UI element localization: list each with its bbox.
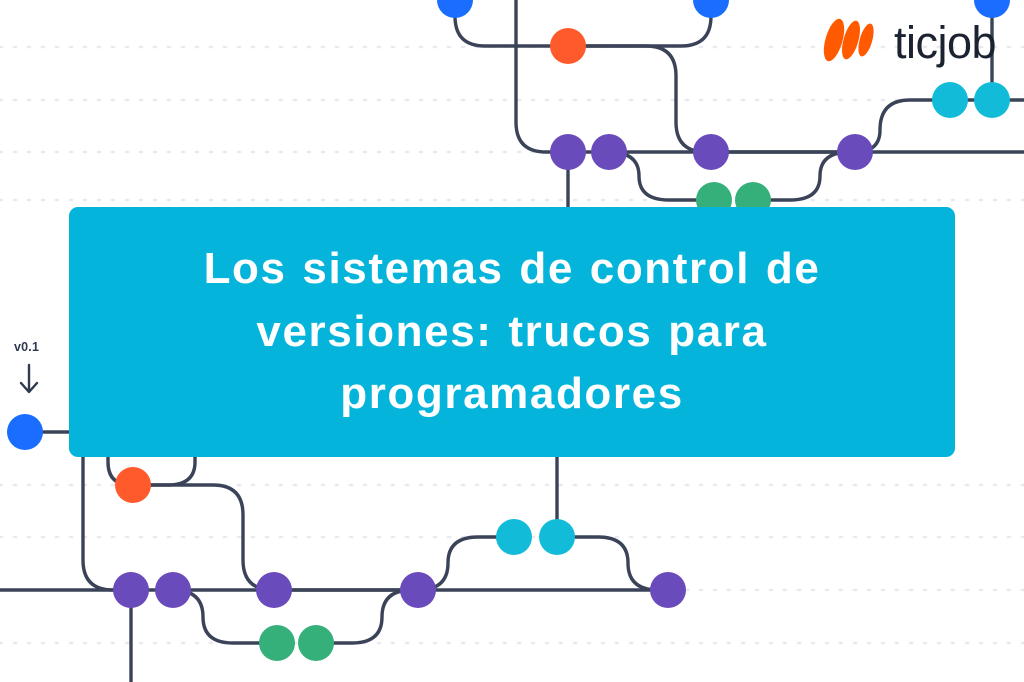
commit-node-purple — [591, 134, 627, 170]
commit-node-blue-v01 — [7, 414, 43, 450]
page-title-line: Los sistemas de control de — [204, 244, 821, 293]
commit-node-purple — [550, 134, 586, 170]
commit-node-cyan — [496, 519, 532, 555]
ticjob-slashes-icon — [820, 14, 884, 71]
brand-logo[interactable]: ticjob — [820, 14, 996, 71]
commit-node-blue — [437, 0, 473, 18]
commit-node-purple — [650, 572, 686, 608]
commit-node-purple — [837, 134, 873, 170]
commit-node-purple — [400, 572, 436, 608]
commit-node-green — [259, 625, 295, 661]
commit-node-cyan — [974, 82, 1010, 118]
graph-branch-lines-bottom — [0, 432, 668, 682]
title-banner: Los sistemas de control deversiones: tru… — [69, 207, 955, 457]
commit-node-orange — [115, 467, 151, 503]
commit-node-cyan — [932, 82, 968, 118]
page-title-line: versiones: trucos para — [256, 307, 767, 356]
brand-wordmark: ticjob — [894, 20, 996, 65]
commit-node-purple — [256, 572, 292, 608]
page-title: Los sistemas de control deversiones: tru… — [204, 238, 821, 425]
commit-node-purple — [693, 134, 729, 170]
commit-node-purple — [155, 572, 191, 608]
commit-node-purple — [113, 572, 149, 608]
screenshot-canvas: v0.1 ticjob Los sistemas de control deve… — [0, 0, 1024, 682]
page-title-line: programadores — [340, 369, 684, 418]
commit-node-cyan — [539, 519, 575, 555]
commit-node-orange — [550, 28, 586, 64]
commit-node-green — [298, 625, 334, 661]
commit-node-blue — [693, 0, 729, 18]
